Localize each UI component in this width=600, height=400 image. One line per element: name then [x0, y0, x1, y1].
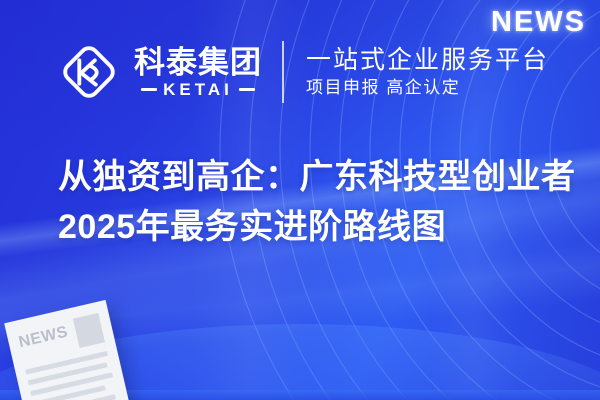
brand-name-cn: 科泰集团: [134, 47, 262, 78]
brand-name-en: KETAI: [163, 81, 233, 98]
newspaper-text-lines: [25, 351, 118, 400]
page-title-line-1: 从独资到高企：广东科技型创业者: [58, 152, 570, 202]
dash-right-icon: [239, 88, 255, 91]
newspaper-thumbnail: [73, 313, 105, 348]
header-divider: [282, 41, 284, 103]
newspaper-heading: NEWS: [17, 324, 69, 351]
banner-header: 科泰集团 KETAI 一站式企业服务平台 项目申报 高企认定: [0, 24, 600, 120]
page-title-line-2: 2025年最务实进阶路线图: [58, 202, 570, 252]
brand-tagline: 一站式企业服务平台 项目申报 高企认定: [306, 47, 549, 97]
brand-wordmark: 科泰集团 KETAI: [134, 47, 262, 98]
tagline-main: 一站式企业服务平台: [306, 47, 549, 73]
tagline-sub: 项目申报 高企认定: [306, 79, 549, 97]
brand-logo: 科泰集团 KETAI: [58, 41, 262, 103]
dash-left-icon: [141, 88, 157, 91]
ketai-diamond-logo-icon: [58, 41, 120, 103]
brand-name-en-row: KETAI: [134, 81, 262, 98]
page-title: 从独资到高企：广东科技型创业者 2025年最务实进阶路线图: [58, 152, 570, 252]
news-banner: 科泰集团 KETAI 一站式企业服务平台 项目申报 高企认定 NEWS 从独资到…: [0, 0, 600, 400]
news-watermark: NEWS: [491, 8, 586, 37]
